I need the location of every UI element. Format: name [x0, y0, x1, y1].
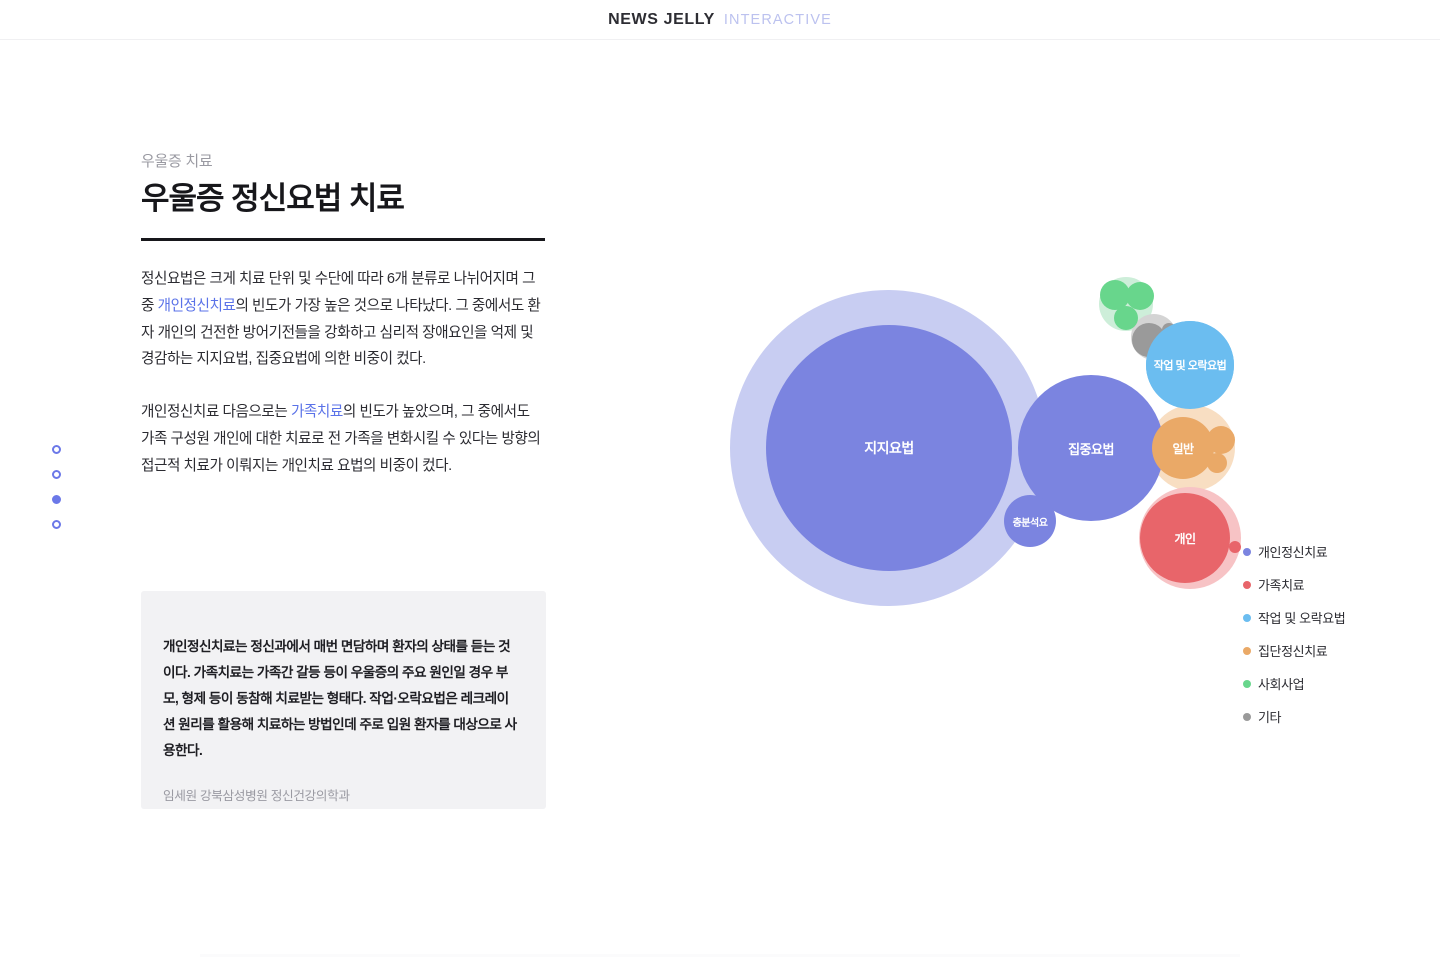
legend-label: 기타	[1258, 707, 1281, 726]
bubble-일반[interactable]: 일반	[1152, 417, 1214, 479]
legend-label: 작업 및 오락요법	[1258, 608, 1345, 627]
nav-dot-4[interactable]	[52, 520, 61, 529]
legend-item-작업 및 오락요법[interactable]: 작업 및 오락요법	[1243, 608, 1345, 627]
legend-swatch-icon	[1243, 680, 1251, 688]
legend-swatch-icon	[1243, 713, 1251, 721]
bubble-label: 지지요법	[864, 438, 914, 458]
legend-label: 사회사업	[1258, 674, 1304, 693]
quote-source: 임세원 강북삼성병원 정신건강의학과	[163, 785, 520, 804]
site-header: NEWS JELLY INTERACTIVE	[0, 0, 1440, 40]
paragraph-2-highlight: 가족치료	[291, 404, 343, 420]
nav-dot-1[interactable]	[52, 445, 61, 454]
legend-item-가족치료[interactable]: 가족치료	[1243, 575, 1345, 594]
brand-tagline: INTERACTIVE	[724, 12, 832, 28]
expert-quote-card: 개인정신치료는 정신과에서 매번 면담하며 환자의 상태를 듣는 것이다. 가족…	[141, 591, 546, 809]
bubble-충분석요[interactable]: 충분석요	[1004, 495, 1056, 547]
legend-label: 가족치료	[1258, 575, 1304, 594]
page-body: 우울증 치료 우울증 정신요법 치료 정신요법은 크게 치료 단위 및 수단에 …	[0, 40, 1440, 957]
quote-text: 개인정신치료는 정신과에서 매번 면담하며 환자의 상태를 듣는 것이다. 가족…	[163, 634, 520, 764]
bubble-가족치료-19[interactable]	[1229, 541, 1241, 553]
legend-item-사회사업[interactable]: 사회사업	[1243, 674, 1345, 693]
legend-label: 집단정신치료	[1258, 641, 1327, 660]
bubble-label: 작업 및 오락요법	[1154, 357, 1226, 373]
article-paragraph-1: 정신요법은 크게 치료 단위 및 수단에 따라 6개 분류로 나뉘어지며 그 중…	[141, 266, 546, 373]
bubble-label: 충분석요	[1013, 514, 1048, 529]
bubble-chart: 지지요법집중요법충분석요작업 및 오락요법일반개인	[740, 190, 1300, 710]
article-paragraph-2: 개인정신치료 다음으로는 가족치료의 빈도가 높았으며, 그 중에서도 가족 구…	[141, 399, 546, 480]
bubble-집단정신치료-16[interactable]	[1207, 453, 1227, 473]
chart-legend: 개인정신치료가족치료작업 및 오락요법집단정신치료사회사업기타	[1243, 542, 1345, 726]
bubble-label: 개인	[1174, 530, 1195, 547]
title-underline	[141, 238, 545, 241]
bubble-label: 집중요법	[1068, 439, 1114, 458]
legend-swatch-icon	[1243, 548, 1251, 556]
legend-item-개인정신치료[interactable]: 개인정신치료	[1243, 542, 1345, 561]
brand-logo[interactable]: NEWS JELLY INTERACTIVE	[608, 11, 832, 29]
legend-swatch-icon	[1243, 614, 1251, 622]
bubble-집단정신치료-15[interactable]	[1207, 426, 1235, 454]
paragraph-1-highlight: 개인정신치료	[158, 298, 236, 314]
bubble-작업 및 오락요법[interactable]: 작업 및 오락요법	[1146, 321, 1234, 409]
bubble-지지요법[interactable]: 지지요법	[766, 325, 1012, 571]
legend-item-집단정신치료[interactable]: 집단정신치료	[1243, 641, 1345, 660]
bubble-개인[interactable]: 개인	[1140, 493, 1230, 583]
page-title: 우울증 정신요법 치료	[141, 180, 546, 218]
section-dot-nav[interactable]	[52, 445, 61, 529]
legend-label: 개인정신치료	[1258, 542, 1327, 561]
bubble-label: 일반	[1172, 440, 1193, 457]
nav-dot-2[interactable]	[52, 470, 61, 479]
brand-name: NEWS JELLY	[608, 11, 715, 29]
legend-swatch-icon	[1243, 647, 1251, 655]
legend-item-기타[interactable]: 기타	[1243, 707, 1345, 726]
article-column: 우울증 치료 우울증 정신요법 치료 정신요법은 크게 치료 단위 및 수단에 …	[141, 150, 546, 480]
paragraph-2-text-a: 개인정신치료 다음으로는	[141, 404, 291, 420]
nav-dot-3[interactable]	[52, 495, 61, 504]
article-eyebrow: 우울증 치료	[141, 150, 546, 171]
bubble-사회사업-7[interactable]	[1114, 306, 1138, 330]
legend-swatch-icon	[1243, 581, 1251, 589]
